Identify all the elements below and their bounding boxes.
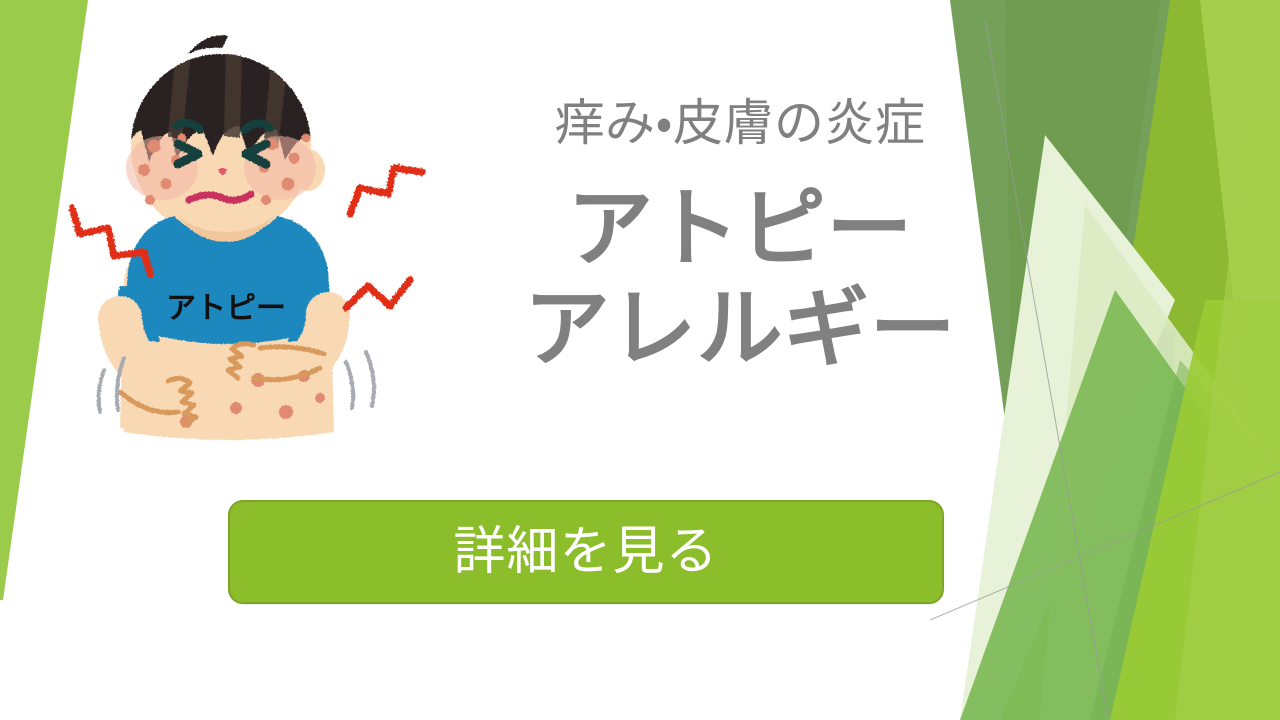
hairline-diagonal-2 [930, 472, 1280, 620]
facet-dark-accent [1090, 330, 1175, 470]
facet-right-base [1050, 0, 1280, 720]
facet-bright-overlay-2 [1175, 120, 1280, 720]
subtitle: 痒み・皮膚の炎症 [430, 96, 1050, 150]
view-details-button-label: 詳細を見る [453, 526, 718, 578]
slide-canvas: アトピー 痒み・皮膚の炎症 アトピー アレルギー 詳細を見る [0, 0, 1280, 720]
facet-bright-overlay [1110, 300, 1280, 720]
facet-medium-diagonal-2 [1090, 360, 1280, 720]
headline-block: 痒み・皮膚の炎症 アトピー アレルギー [430, 96, 1050, 380]
page-title: アトピー アレルギー [430, 180, 1050, 380]
illustration-boy-with-atopic-dermatitis: アトピー [58, 18, 428, 458]
title-line-1: アトピー [430, 180, 1050, 280]
view-details-button[interactable]: 詳細を見る [228, 500, 944, 604]
hair-spike [188, 35, 228, 54]
facet-pale-sweep-2 [1040, 205, 1280, 720]
shirt-label: アトピー [166, 292, 286, 325]
title-line-2: アレルギー [430, 280, 1050, 380]
belly [124, 348, 334, 440]
